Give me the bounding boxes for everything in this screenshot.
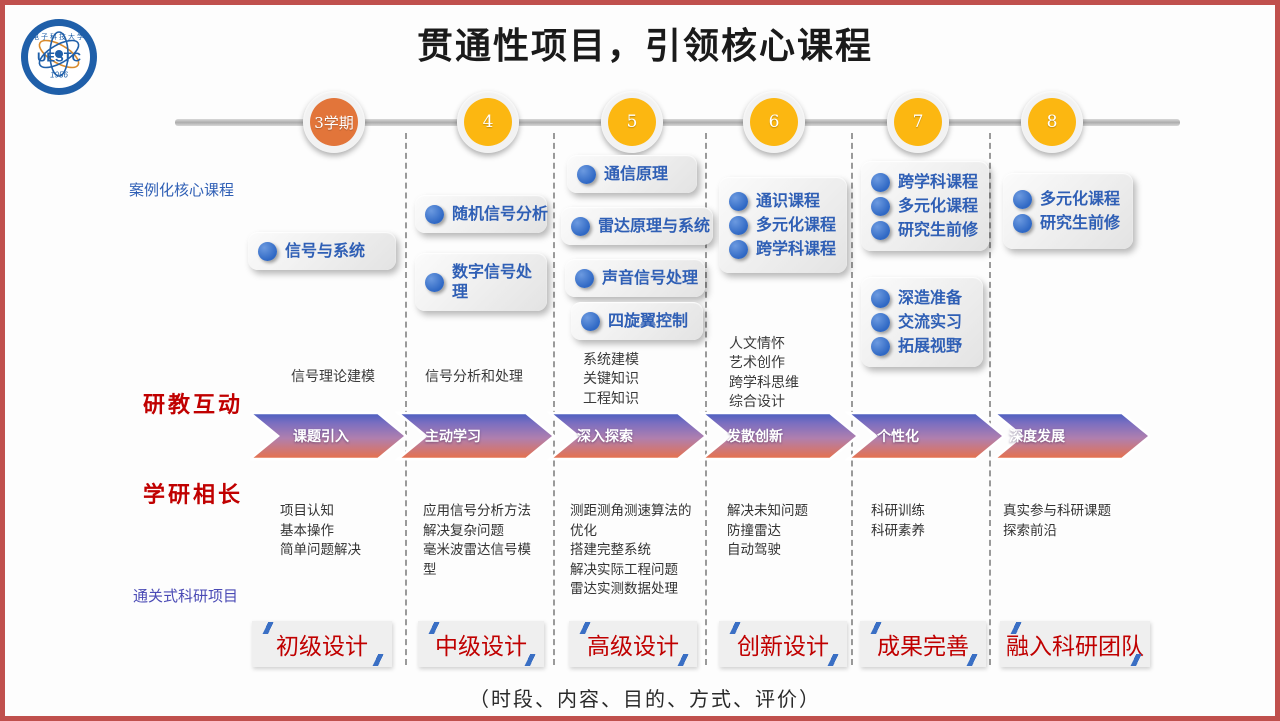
stage-box-5[interactable]: 成果完善: [860, 621, 986, 667]
course-item: 研究生前修: [1013, 211, 1123, 235]
arrow-label-3: 深入探索: [577, 426, 633, 446]
course-item: 深造准备: [871, 286, 973, 310]
course-card-sem8-a[interactable]: 多元化课程 研究生前修: [1003, 173, 1133, 249]
bullet-icon: [577, 165, 596, 184]
slide-canvas: 电子科技大学 UESTC 1956 贯通性项目，引领核心课程 3学期 4 5 6…: [0, 0, 1280, 721]
timeline-node-1[interactable]: 3学期: [303, 91, 365, 153]
bullet-icon: [581, 312, 600, 331]
course-item: 多元化课程: [871, 194, 979, 218]
timeline-node-3-label: 5: [608, 98, 656, 146]
outcome-note-col8: 真实参与科研课题 探索前沿: [1003, 502, 1111, 541]
course-label: 多元化课程: [756, 215, 836, 235]
corner-accent-icon: [1002, 622, 1028, 634]
logo-year: 1956: [50, 71, 68, 80]
bullet-icon: [729, 240, 748, 259]
page-title: 贯通性项目，引领核心课程: [5, 17, 1280, 69]
bullet-icon: [871, 221, 890, 240]
arrow-label-2: 主动学习: [425, 426, 481, 446]
corner-accent-icon: [571, 622, 597, 634]
course-item: 跨学科课程: [729, 237, 837, 261]
corner-accent-icon: [958, 654, 984, 666]
bullet-icon: [871, 289, 890, 308]
stage-box-6[interactable]: 融入科研团队: [1000, 621, 1150, 667]
bullet-icon: [871, 313, 890, 332]
bullet-icon: [729, 192, 748, 211]
stage-box-4[interactable]: 创新设计: [719, 621, 847, 667]
course-label: 随机信号分析: [452, 204, 548, 224]
stage-box-1[interactable]: 初级设计: [252, 621, 392, 667]
course-label: 信号与系统: [285, 241, 365, 261]
course-item: 研究生前修: [871, 218, 979, 242]
course-item: 跨学科课程: [871, 170, 979, 194]
timeline-node-4-label: 6: [750, 98, 798, 146]
course-item: 四旋翼控制: [581, 309, 693, 333]
outcome-note-col7: 科研训练 科研素养: [871, 502, 925, 541]
arrow-label-6: 深度发展: [1009, 426, 1065, 446]
course-label: 多元化课程: [898, 196, 978, 216]
corner-accent-icon: [516, 654, 542, 666]
arrow-label-5: 个性化: [877, 426, 919, 446]
course-label: 通信原理: [604, 164, 668, 184]
outcome-note-col6: 解决未知问题 防撞雷达 自动驾驶: [727, 502, 808, 561]
course-card-sem7-b[interactable]: 深造准备 交流实习 拓展视野: [861, 277, 983, 367]
course-card-sem5-b[interactable]: 雷达原理与系统: [561, 207, 713, 245]
footer-caption: （时段、内容、目的、方式、评价）: [5, 683, 1280, 712]
course-item: 通识课程: [729, 189, 837, 213]
course-card-sem6-a[interactable]: 通识课程 多元化课程 跨学科课程: [719, 177, 847, 273]
course-label: 研究生前修: [898, 220, 978, 240]
bullet-icon: [1013, 214, 1032, 233]
course-label: 雷达原理与系统: [598, 216, 710, 236]
column-divider-4: [851, 133, 853, 665]
knowledge-note-col3: 信号理论建模: [291, 368, 375, 387]
course-label: 跨学科课程: [898, 172, 978, 192]
course-item: 通信原理: [577, 162, 687, 186]
corner-accent-icon: [420, 622, 446, 634]
corner-accent-icon: [669, 654, 695, 666]
bullet-icon: [425, 205, 444, 224]
course-card-sem7-a[interactable]: 跨学科课程 多元化课程 研究生前修: [861, 161, 989, 251]
course-card-sem5-a[interactable]: 通信原理: [567, 155, 697, 193]
bullet-icon: [871, 337, 890, 356]
bullet-icon: [871, 197, 890, 216]
outcome-note-col4: 应用信号分析方法 解决复杂问题 毫米波雷达信号模 型: [423, 502, 531, 580]
timeline-node-3[interactable]: 5: [601, 91, 663, 153]
stage-label: 成果完善: [877, 627, 969, 661]
timeline-node-6[interactable]: 8: [1021, 91, 1083, 153]
bullet-icon: [871, 173, 890, 192]
timeline-node-1-label: 3学期: [310, 98, 358, 146]
corner-accent-icon: [364, 654, 390, 666]
course-item: 信号与系统: [258, 239, 386, 263]
course-item: 随机信号分析: [425, 202, 537, 226]
course-label: 声音信号处理: [602, 268, 698, 288]
course-item: 多元化课程: [729, 213, 837, 237]
stage-label: 创新设计: [737, 627, 829, 661]
course-card-sem4-a[interactable]: 随机信号分析: [415, 195, 547, 233]
course-card-sem4-b[interactable]: 数字信号处理: [415, 253, 547, 311]
stage-label: 中级设计: [435, 627, 527, 661]
stage-box-3[interactable]: 高级设计: [569, 621, 697, 667]
bullet-icon: [258, 242, 277, 261]
label-pass-project: 通关式科研项目: [133, 585, 238, 606]
label-mutual-growth: 学研相长: [143, 477, 243, 509]
knowledge-note-col6: 人文情怀 艺术创作 跨学科思维 综合设计: [729, 335, 799, 412]
course-label: 通识课程: [756, 191, 820, 211]
knowledge-note-col5: 系统建模 关键知识 工程知识: [583, 351, 639, 409]
course-label: 跨学科课程: [756, 239, 836, 259]
arrow-label-1: 课题引入: [293, 426, 349, 446]
knowledge-note-col4: 信号分析和处理: [425, 368, 523, 387]
timeline-node-6-label: 8: [1028, 98, 1076, 146]
column-divider-1: [405, 133, 407, 665]
arrow-label-4: 发散创新: [727, 426, 783, 446]
timeline-node-2-label: 4: [464, 98, 512, 146]
column-divider-2: [553, 133, 555, 665]
column-divider-5: [989, 133, 991, 665]
course-item: 雷达原理与系统: [571, 214, 703, 238]
timeline-node-5-label: 7: [894, 98, 942, 146]
course-item: 声音信号处理: [575, 266, 695, 290]
course-item: 多元化课程: [1013, 187, 1123, 211]
corner-accent-icon: [1122, 654, 1148, 666]
bullet-icon: [571, 217, 590, 236]
course-card-sem5-d[interactable]: 四旋翼控制: [571, 302, 703, 340]
course-label: 数字信号处理: [452, 262, 537, 302]
course-label: 深造准备: [898, 288, 962, 308]
stage-label: 高级设计: [587, 627, 679, 661]
timeline-node-4[interactable]: 6: [743, 91, 805, 153]
timeline-node-2[interactable]: 4: [457, 91, 519, 153]
course-item: 交流实习: [871, 310, 973, 334]
stage-box-2[interactable]: 中级设计: [418, 621, 544, 667]
bullet-icon: [575, 269, 594, 288]
course-label: 研究生前修: [1040, 213, 1120, 233]
corner-accent-icon: [862, 622, 888, 634]
course-card-sem5-c[interactable]: 声音信号处理: [565, 259, 705, 297]
arrow-5: [848, 413, 1004, 459]
course-label: 多元化课程: [1040, 189, 1120, 209]
outcome-note-col5: 测距测角测速算法的 优化 搭建完整系统 解决实际工程问题 雷达实测数据处理: [570, 502, 692, 600]
course-item: 数字信号处理: [425, 260, 537, 304]
bullet-icon: [729, 216, 748, 235]
outcome-note-col3: 项目认知 基本操作 简单问题解决: [280, 502, 361, 561]
corner-accent-icon: [254, 622, 280, 634]
course-label: 交流实习: [898, 312, 962, 332]
corner-accent-icon: [819, 654, 845, 666]
course-label: 拓展视野: [898, 336, 962, 356]
course-label: 四旋翼控制: [608, 311, 688, 331]
timeline-node-5[interactable]: 7: [887, 91, 949, 153]
course-card-sem3-a[interactable]: 信号与系统: [248, 232, 396, 270]
course-item: 拓展视野: [871, 334, 973, 358]
bullet-icon: [1013, 190, 1032, 209]
stage-label: 初级设计: [276, 627, 368, 661]
corner-accent-icon: [721, 622, 747, 634]
bullet-icon: [425, 273, 444, 292]
label-core-courses: 案例化核心课程: [129, 179, 234, 200]
label-research-teaching: 研教互动: [143, 387, 243, 419]
